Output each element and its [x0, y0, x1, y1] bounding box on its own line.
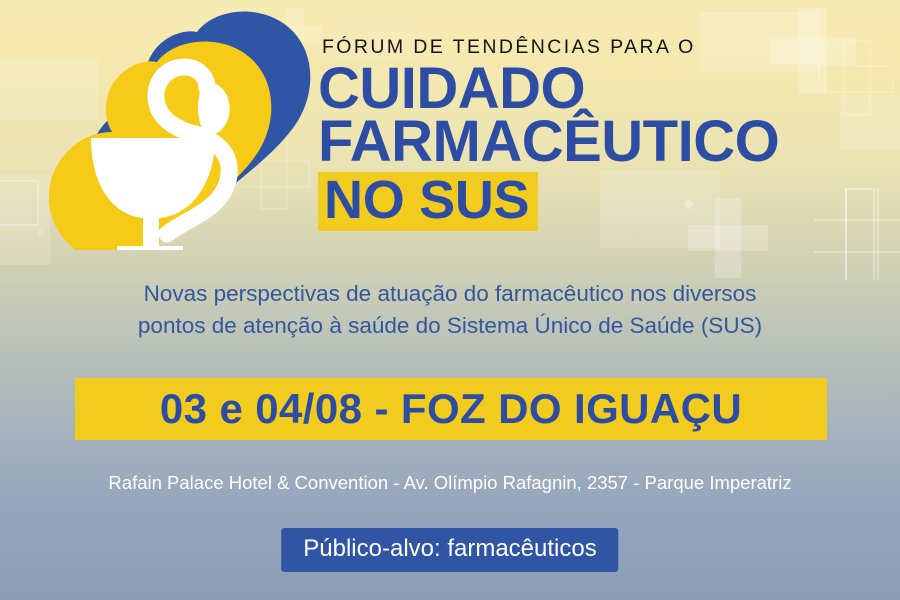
decorative-rect [0, 175, 50, 265]
subtitle-line-2: pontos de atenção à saúde do Sistema Úni… [60, 310, 840, 342]
title-block: FÓRUM DE TENDÊNCIAS PARA O CUIDADO FARMA… [318, 38, 878, 231]
event-subtitle: Novas perspectivas de atuação do farmacê… [0, 278, 900, 342]
title-highlight-no-sus: NO SUS [318, 172, 538, 231]
decorative-rect-outline [0, 180, 39, 226]
decorative-dot [38, 230, 44, 236]
event-poster: FÓRUM DE TENDÊNCIAS PARA O CUIDADO FARMA… [0, 0, 900, 600]
subtitle-line-1: Novas perspectivas de atuação do farmacê… [60, 278, 840, 310]
event-kicker: FÓRUM DE TENDÊNCIAS PARA O [322, 38, 878, 58]
venue-address: Rafain Palace Hotel & Convention - Av. O… [0, 472, 900, 494]
date-location-banner: 03 e 04/08 - FOZ DO IGUAÇU [75, 378, 827, 440]
target-audience-badge: Público-alvo: farmacêuticos [281, 528, 618, 572]
bowl-of-hygieia-heart-logo [55, 10, 320, 260]
logo-bowl-foot-accent [125, 248, 181, 260]
title-line-cuidado: CUIDADO [318, 62, 878, 116]
title-line-farmaceutico: FARMACÊUTICO [318, 115, 878, 169]
date-location-text: 03 e 04/08 - FOZ DO IGUAÇU [160, 388, 742, 430]
